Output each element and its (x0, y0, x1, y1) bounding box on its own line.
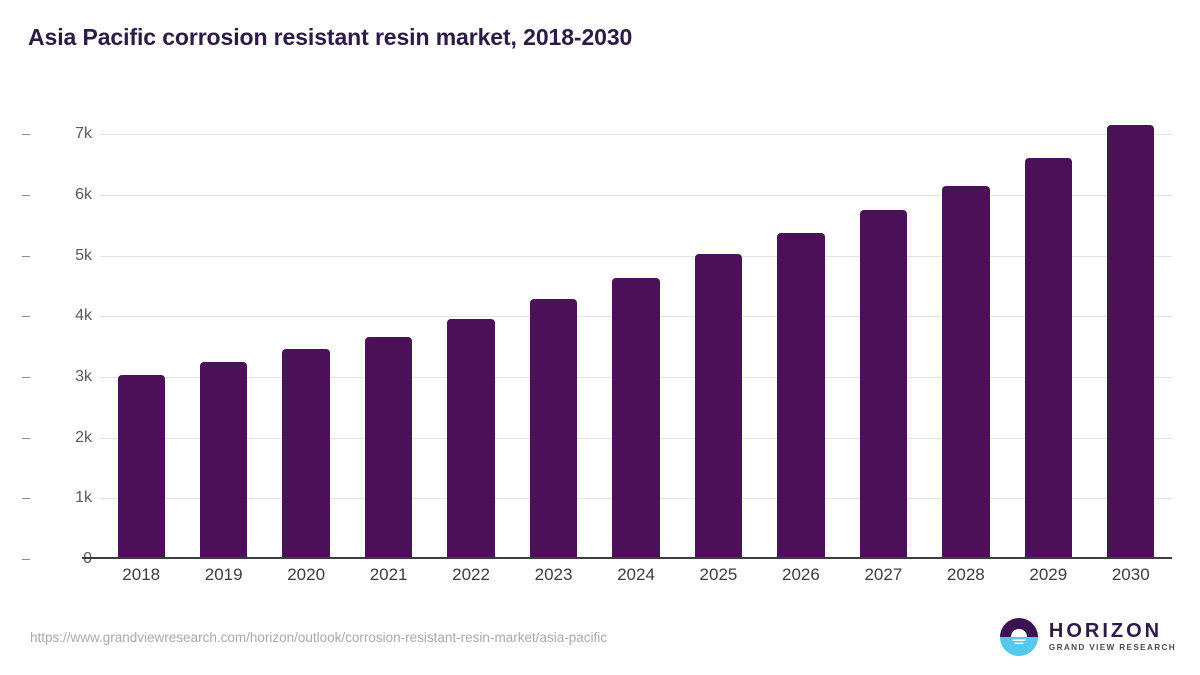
x-axis-tick-label: 2022 (452, 565, 490, 585)
bar-column[interactable] (282, 110, 329, 559)
logo-name: HORIZON (1049, 621, 1176, 641)
x-axis-tick-label: 2030 (1112, 565, 1150, 585)
bar-column[interactable] (777, 110, 824, 559)
bar-column[interactable] (612, 110, 659, 559)
x-axis-tick-label: 2025 (700, 565, 738, 585)
y-axis-tick-label: 5k (75, 247, 92, 265)
bar-column[interactable] (365, 110, 412, 559)
bar[interactable] (282, 349, 329, 559)
brand-logo[interactable]: HORIZON GRAND VIEW RESEARCH (999, 617, 1176, 657)
y-axis-tick-mark (22, 559, 30, 560)
y-axis-tick-label: 7k (75, 125, 92, 143)
page-title: Asia Pacific corrosion resistant resin m… (28, 24, 632, 51)
x-axis-tick-label: 2028 (947, 565, 985, 585)
bar[interactable] (860, 210, 907, 559)
bar-column[interactable] (695, 110, 742, 559)
y-axis-tick-mark (22, 377, 30, 378)
x-axis-tick-label: 2023 (535, 565, 573, 585)
x-axis-tick-label: 2020 (287, 565, 325, 585)
x-axis-tick-label: 2026 (782, 565, 820, 585)
bar[interactable] (695, 254, 742, 559)
bar[interactable] (447, 319, 494, 559)
bar[interactable] (530, 299, 577, 559)
bar[interactable] (942, 186, 989, 559)
y-axis-tick-label: 0 (83, 550, 92, 568)
y-axis-tick-labels: 01k2k3k4k5k6k7k (40, 110, 92, 559)
bar-column[interactable] (1025, 110, 1072, 559)
bar[interactable] (1107, 125, 1154, 559)
y-axis-tick-label: 4k (75, 307, 92, 325)
bar[interactable] (777, 233, 824, 559)
logo-tagline: GRAND VIEW RESEARCH (1049, 644, 1176, 652)
x-axis-tick-label: 2018 (122, 565, 160, 585)
x-axis-line (82, 557, 1172, 559)
x-axis-tick-label: 2021 (370, 565, 408, 585)
y-axis-tick-label: 3k (75, 368, 92, 386)
horizon-circle-icon (999, 617, 1039, 657)
bar-column[interactable] (118, 110, 165, 559)
bar[interactable] (200, 362, 247, 559)
x-axis-tick-label: 2019 (205, 565, 243, 585)
x-axis-tick-label: 2024 (617, 565, 655, 585)
x-axis-tick-label: 2029 (1029, 565, 1067, 585)
y-axis-tick-label: 2k (75, 429, 92, 447)
source-url[interactable]: https://www.grandviewresearch.com/horizo… (30, 630, 607, 645)
y-axis-tick-label: 6k (75, 186, 92, 204)
y-axis-tick-mark (22, 498, 30, 499)
bar[interactable] (365, 337, 412, 559)
bar-column[interactable] (447, 110, 494, 559)
bar-column[interactable] (200, 110, 247, 559)
bar-column[interactable] (530, 110, 577, 559)
y-axis-tick-mark (22, 195, 30, 196)
plot-area (100, 110, 1172, 559)
y-axis-tick-label: 1k (75, 489, 92, 507)
chart-page: Asia Pacific corrosion resistant resin m… (0, 0, 1200, 675)
bar[interactable] (118, 375, 165, 559)
bar-column[interactable] (860, 110, 907, 559)
bar[interactable] (1025, 158, 1072, 559)
logo-text: HORIZON GRAND VIEW RESEARCH (1049, 621, 1176, 652)
y-axis-tick-mark (22, 256, 30, 257)
y-axis-tick-mark (22, 316, 30, 317)
bar-series (100, 110, 1172, 559)
x-axis-tick-label: 2027 (864, 565, 902, 585)
y-axis-tick-mark (22, 134, 30, 135)
bar[interactable] (612, 278, 659, 559)
x-axis-tick-labels: 2018201920202021202220232024202520262027… (100, 565, 1172, 595)
bar-column[interactable] (1107, 110, 1154, 559)
y-axis-tick-mark (22, 438, 30, 439)
bar-column[interactable] (942, 110, 989, 559)
